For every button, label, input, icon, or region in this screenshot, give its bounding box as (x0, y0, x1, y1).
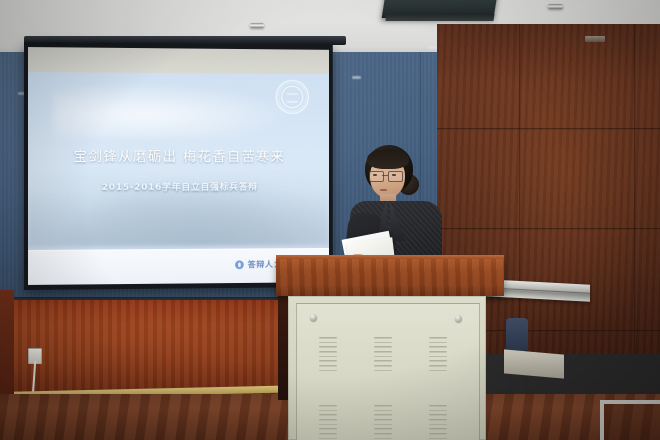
projection-screen: 宝剑锋从磨砺出 梅花香自苦寒来 2015-2016学年自立自强标兵答辩 答辩人：… (24, 42, 333, 290)
wood-wall-seam (437, 128, 660, 130)
glasses-lens (369, 171, 384, 182)
podium-vent-louvers (374, 337, 392, 375)
slide-subtitle: 2015-2016学年自立自强标兵答辩 (28, 179, 329, 193)
presenter (338, 141, 456, 273)
wood-wall-seam (519, 24, 521, 354)
podium-vent-louvers (319, 405, 337, 440)
hair-fringe (367, 149, 409, 169)
lecture-hall-photo: 宝剑锋从磨砺出 梅花香自苦寒来 2015-2016学年自立自强标兵答辩 答辩人：… (0, 0, 660, 440)
presentation-slide: 宝剑锋从磨砺出 梅花香自苦寒来 2015-2016学年自立自强标兵答辩 答辩人：… (28, 72, 329, 285)
wood-wall-seam (634, 24, 636, 354)
mouth (380, 189, 387, 191)
left-wood-column (0, 290, 14, 400)
screen-surface: 宝剑锋从磨砺出 梅花香自苦寒来 2015-2016学年自立自强标兵答辩 答辩人：… (28, 47, 329, 285)
podium-vent-louvers (374, 405, 392, 440)
glasses-icon (369, 171, 403, 180)
wall-scuff (352, 76, 361, 79)
podium-vent-louvers (429, 405, 447, 440)
podium-knob[interactable] (310, 314, 317, 321)
metal-frame (600, 400, 660, 440)
ceiling-light-icon (548, 4, 563, 9)
slide-cloud-graphic (53, 78, 306, 138)
podium-vent-louvers (429, 337, 447, 375)
wall-plate-icon (585, 36, 605, 42)
screen-blank-band (28, 47, 329, 74)
glasses-lens (388, 171, 403, 182)
ceiling-vent-lip (385, 14, 494, 21)
slide-title: 宝剑锋从磨砺出 梅花香自苦寒来 (28, 145, 329, 165)
ceiling-light-icon (250, 23, 264, 28)
droplet-icon (235, 260, 244, 269)
wainscot-wall (0, 300, 292, 398)
podium-vent-louvers (319, 337, 337, 375)
university-emblem-icon (276, 80, 309, 114)
podium-wooden-top (276, 259, 504, 296)
podium-knob[interactable] (455, 315, 462, 322)
wood-wall-seam (437, 228, 660, 230)
slide-mountain-graphic (28, 155, 329, 247)
blue-chair (506, 318, 528, 354)
floor-box (504, 349, 564, 378)
